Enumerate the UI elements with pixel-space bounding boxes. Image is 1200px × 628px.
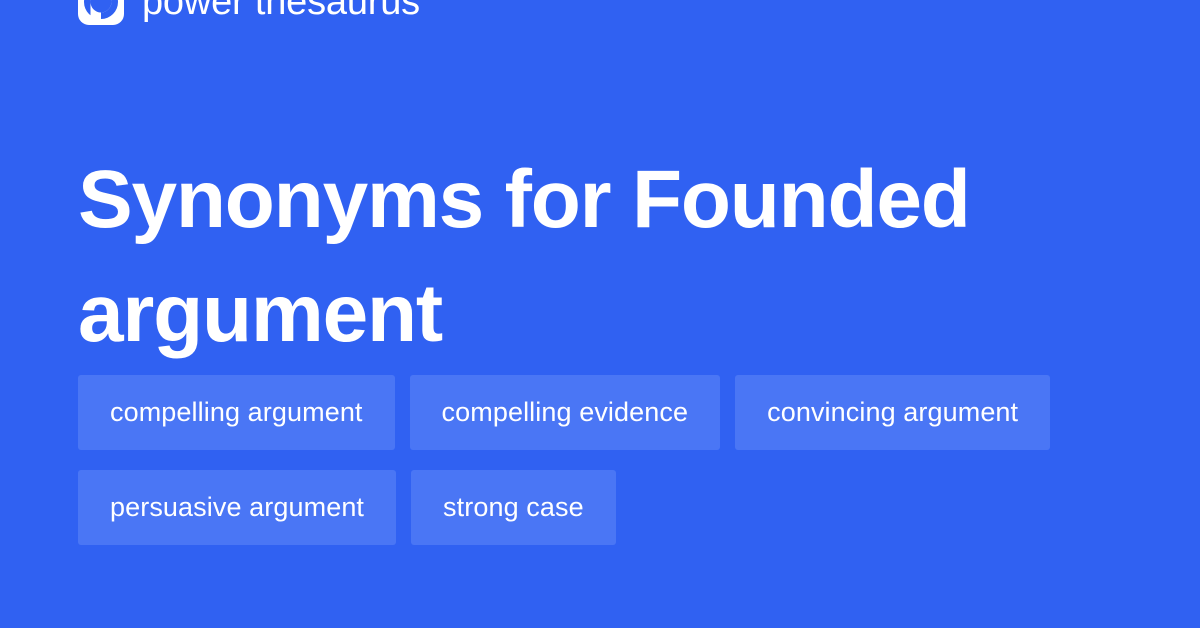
brand-name: power thesaurus <box>142 0 420 25</box>
synonym-chip[interactable]: strong case <box>411 470 616 545</box>
synonym-chip-list: compelling argument compelling evidence … <box>78 375 1138 545</box>
synonym-chip-label: convincing argument <box>767 375 1018 450</box>
power-thesaurus-logo-icon <box>78 0 124 25</box>
synonym-chip[interactable]: compelling evidence <box>410 375 721 450</box>
synonym-chip-label: compelling evidence <box>442 375 689 450</box>
synonym-chip[interactable]: persuasive argument <box>78 470 396 545</box>
synonym-chip[interactable]: convincing argument <box>735 375 1050 450</box>
synonym-chip-label: strong case <box>443 470 584 545</box>
synonym-chip-label: persuasive argument <box>110 470 364 545</box>
page-title: Synonyms for Founded argument <box>78 143 1098 371</box>
brand-header[interactable]: power thesaurus <box>78 0 420 28</box>
synonym-chip[interactable]: compelling argument <box>78 375 395 450</box>
synonyms-share-card: power thesaurus Synonyms for Founded arg… <box>0 0 1200 628</box>
synonym-chip-label: compelling argument <box>110 375 363 450</box>
